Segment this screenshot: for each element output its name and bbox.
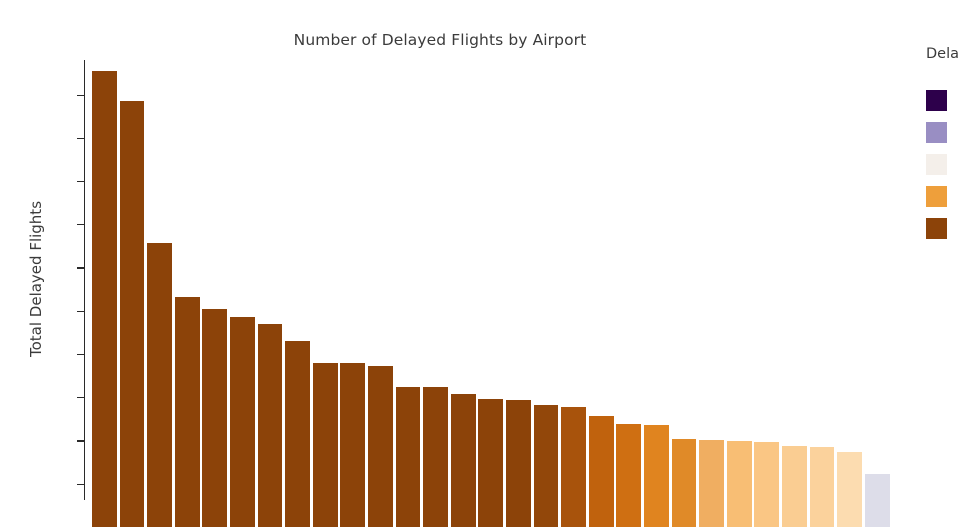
bar[interactable] <box>672 439 697 527</box>
bar[interactable] <box>368 366 393 527</box>
bar[interactable] <box>258 324 283 527</box>
bar[interactable] <box>285 341 310 527</box>
bar[interactable] <box>147 243 172 527</box>
bar[interactable] <box>534 405 559 527</box>
bar[interactable] <box>837 452 862 527</box>
bar[interactable] <box>120 101 145 527</box>
chart-container: Number of Delayed Flights by Airport Tot… <box>0 0 960 500</box>
bar[interactable] <box>313 363 338 527</box>
legend-swatch[interactable] <box>926 122 947 143</box>
bar[interactable] <box>202 309 227 527</box>
bar[interactable] <box>230 317 255 527</box>
legend-swatch[interactable] <box>926 154 947 175</box>
bar[interactable] <box>92 71 117 527</box>
bar[interactable] <box>616 424 641 527</box>
bar[interactable] <box>478 399 503 527</box>
bar[interactable] <box>506 400 531 527</box>
legend-swatch[interactable] <box>926 90 947 111</box>
legend-swatch[interactable] <box>926 186 947 207</box>
bar[interactable] <box>782 446 807 527</box>
bar[interactable] <box>561 407 586 527</box>
bar[interactable] <box>699 440 724 527</box>
bar[interactable] <box>589 416 614 527</box>
legend-title: Dela <box>926 46 959 62</box>
bar[interactable] <box>865 474 890 527</box>
chart-legend: Dela <box>926 46 960 246</box>
legend-swatch[interactable] <box>926 218 947 239</box>
bar[interactable] <box>644 425 669 527</box>
bar[interactable] <box>175 297 200 527</box>
bar[interactable] <box>727 441 752 527</box>
bar[interactable] <box>754 442 779 527</box>
plot-area <box>0 0 905 500</box>
bar[interactable] <box>451 394 476 527</box>
bar[interactable] <box>340 363 365 527</box>
bar[interactable] <box>423 387 448 527</box>
bar[interactable] <box>810 447 835 527</box>
bar[interactable] <box>396 387 421 527</box>
